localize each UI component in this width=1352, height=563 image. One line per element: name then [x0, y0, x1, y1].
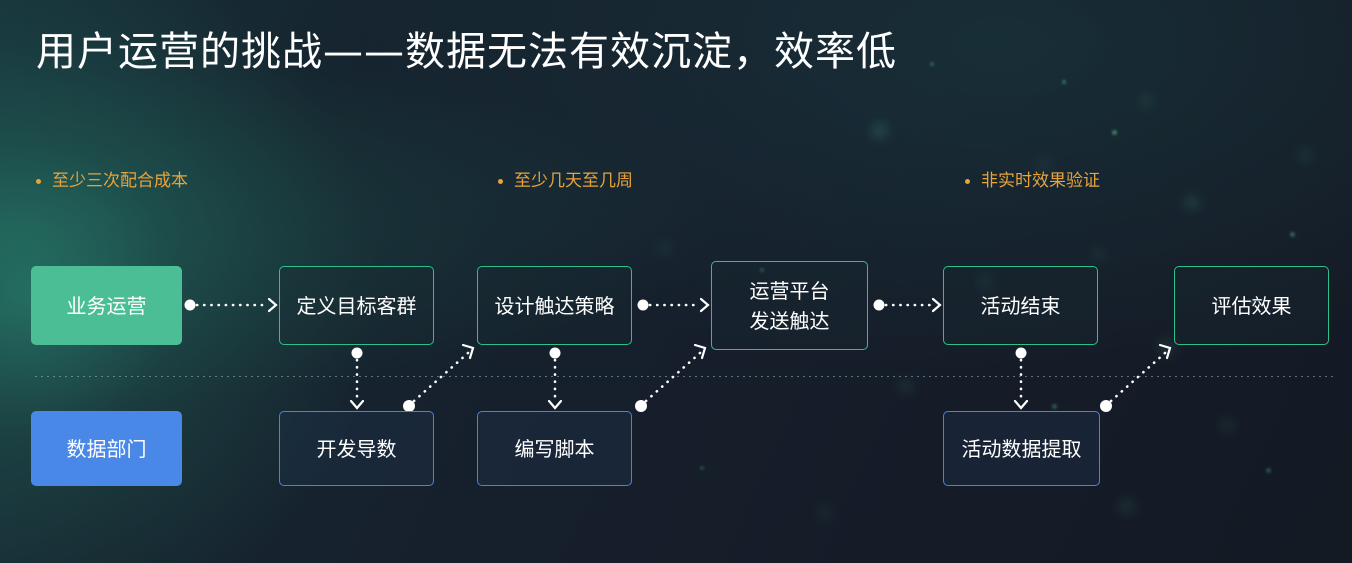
note-validation-label: 非实时效果验证: [981, 171, 1100, 191]
connector-platform-to-end: [874, 299, 941, 311]
node-platform-send-reach[interactable]: 运营平台 发送触达: [711, 261, 868, 350]
bullet-dot-icon: [36, 179, 41, 184]
node-campaign-end[interactable]: 活动结束: [943, 266, 1098, 345]
bullet-dot-icon: [965, 179, 970, 184]
node-extract-campaign-data[interactable]: 活动数据提取: [943, 411, 1100, 486]
node-define-target-audience[interactable]: 定义目标客群: [279, 266, 434, 345]
node-develop-data-export[interactable]: 开发导数: [279, 411, 434, 486]
slide-canvas: 用户运营的挑战——数据无法有效沉淀，效率低 至少三次配合成本 至少几天至几周 非…: [0, 0, 1352, 563]
lane-label-data-department[interactable]: 数据部门: [31, 411, 182, 486]
connector-script-to-platform: [635, 345, 705, 412]
note-cost: 至少三次配合成本: [36, 171, 188, 191]
connector-define-to-develop: [351, 348, 363, 409]
node-evaluate-results[interactable]: 评估效果: [1174, 266, 1329, 345]
connector-strategy-to-script: [549, 348, 561, 409]
note-duration: 至少几天至几周: [498, 171, 633, 191]
connector-business-to-define: [185, 299, 277, 311]
note-cost-label: 至少三次配合成本: [52, 171, 188, 191]
lane-label-business-operations[interactable]: 业务运营: [31, 266, 182, 345]
node-design-reach-strategy[interactable]: 设计触达策略: [477, 266, 632, 345]
connector-develop-to-strategy: [403, 345, 473, 412]
bullet-dot-icon: [498, 179, 503, 184]
note-validation: 非实时效果验证: [965, 171, 1100, 191]
background-bokeh-particles: [0, 0, 1352, 563]
connector-end-to-extract: [1015, 348, 1027, 409]
connector-layer: [0, 0, 1352, 563]
page-title: 用户运营的挑战——数据无法有效沉淀，效率低: [36, 26, 897, 78]
connector-extract-to-evaluate: [1100, 345, 1170, 412]
node-write-script[interactable]: 编写脚本: [477, 411, 632, 486]
lane-divider: [35, 376, 1335, 377]
connector-strategy-to-platform: [638, 299, 709, 311]
note-duration-label: 至少几天至几周: [514, 171, 633, 191]
